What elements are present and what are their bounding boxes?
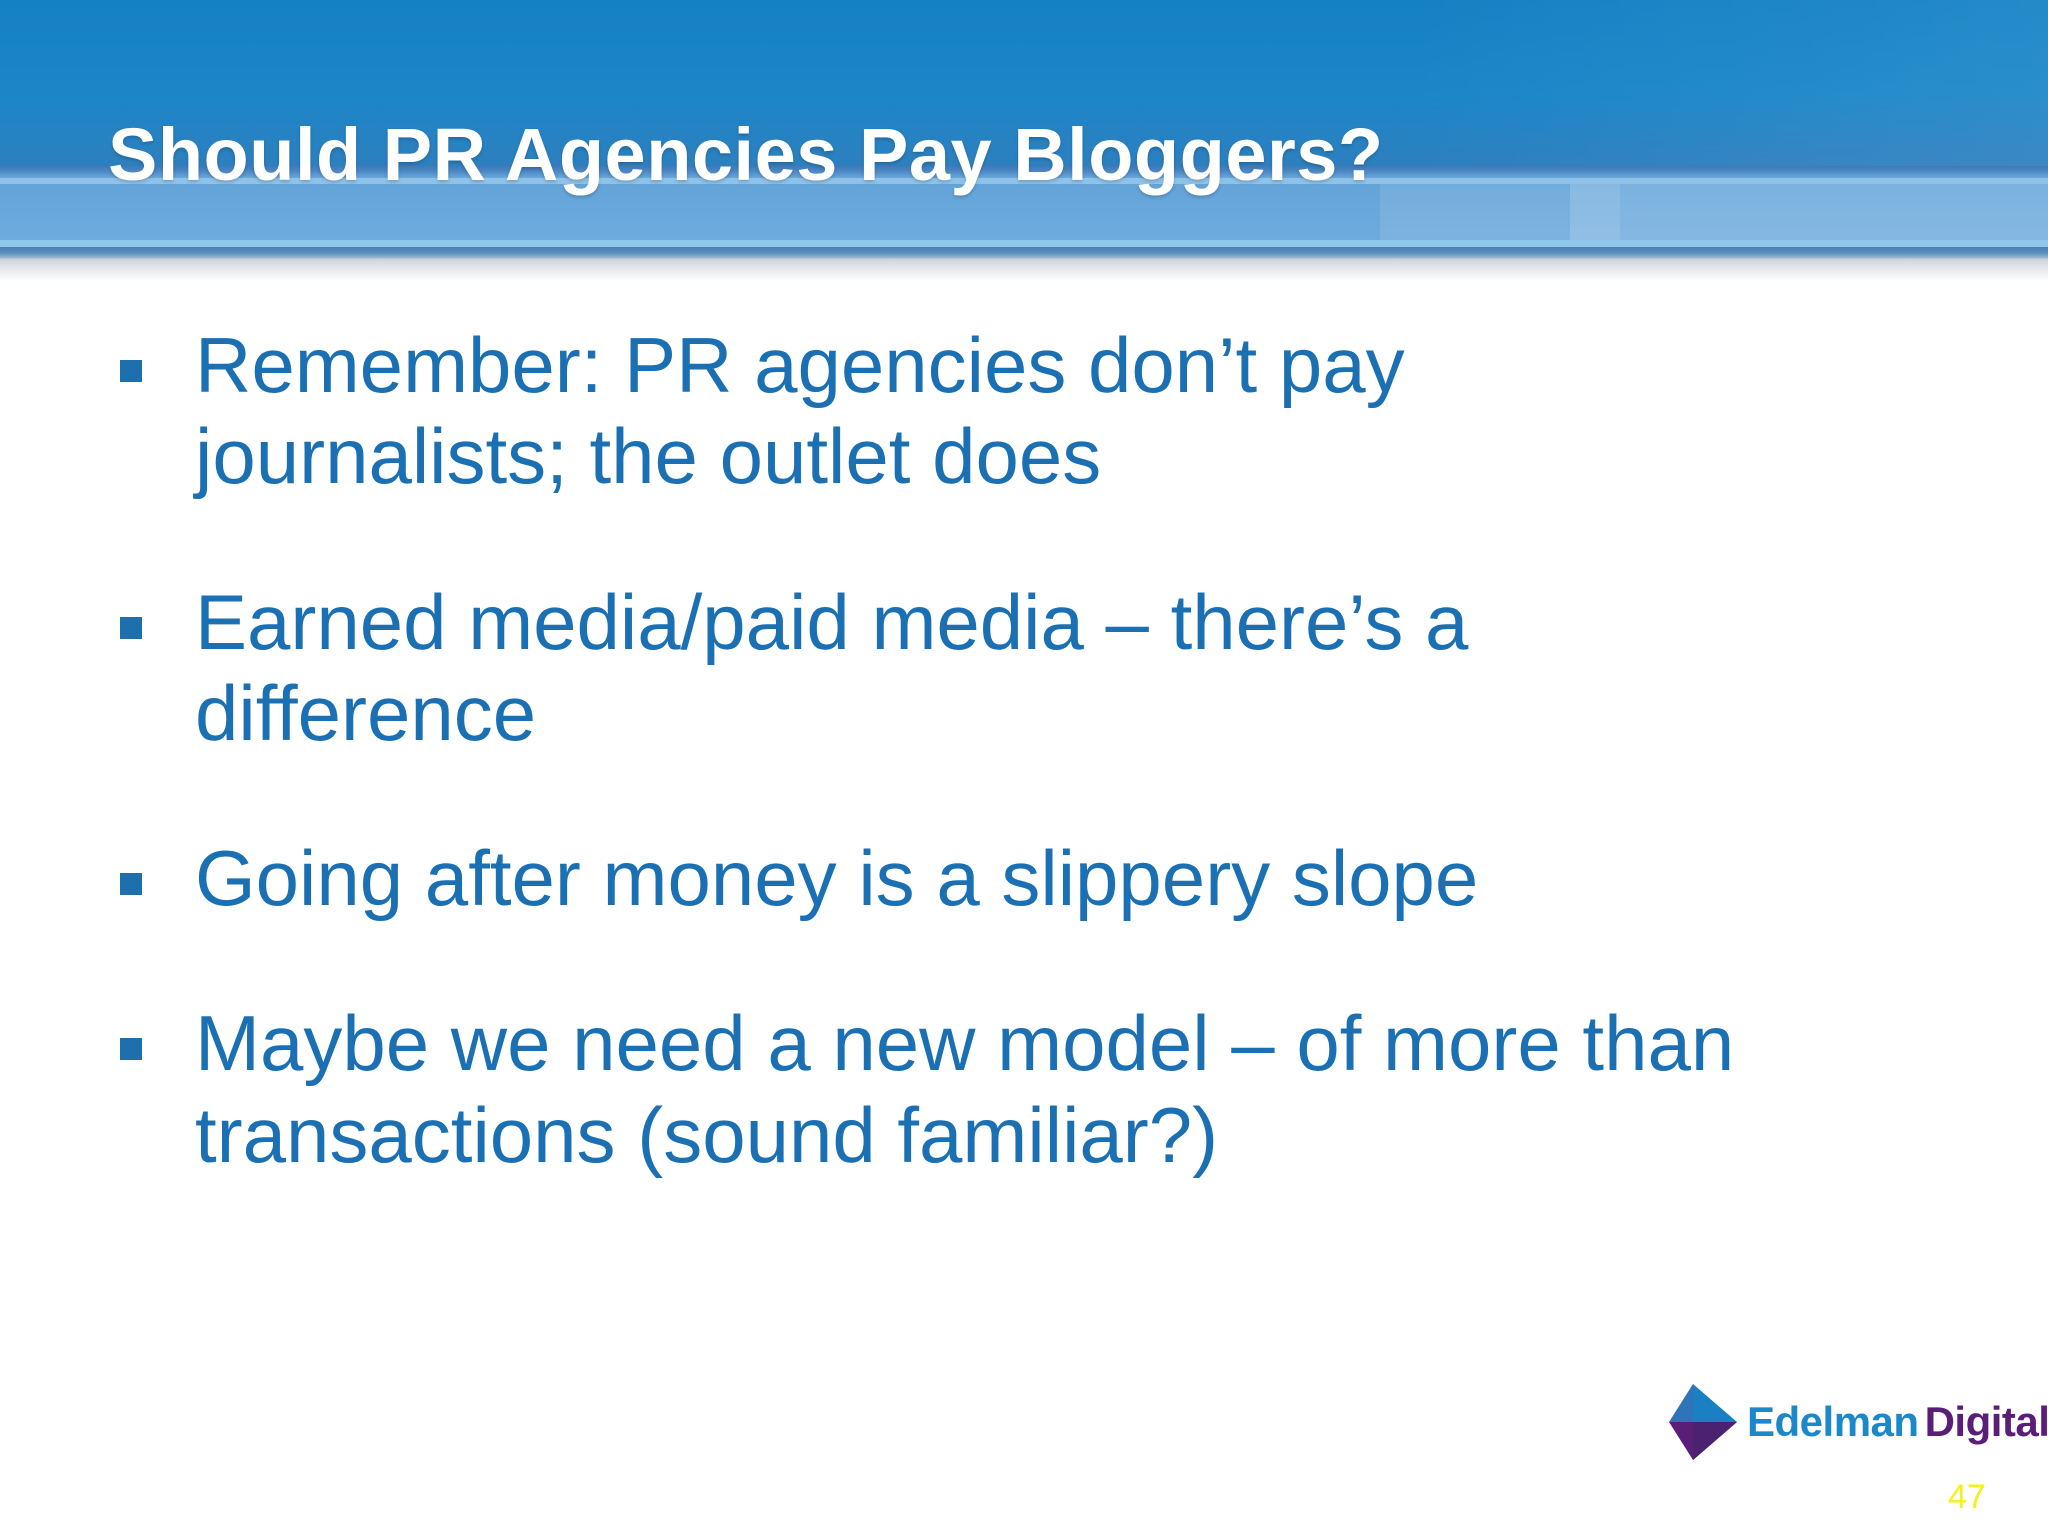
bullet-list: Remember: PR agencies don’t pay journali… — [120, 320, 1910, 1181]
logo-brand-primary: Edelman — [1747, 1398, 1919, 1445]
header-hairline — [0, 240, 2048, 247]
list-item: Earned media/paid media – there’s a diff… — [120, 577, 1910, 760]
header-bottom-fade — [0, 259, 2048, 281]
logo-brand-secondary: Digital — [1925, 1398, 2048, 1445]
bullet-text: Earned media/paid media – there’s a diff… — [195, 577, 1725, 760]
edelman-triangle-icon — [1663, 1382, 1741, 1462]
bullet-text: Maybe we need a new model – of more than… — [195, 998, 1835, 1181]
square-bullet-icon — [120, 617, 142, 639]
bullet-text: Remember: PR agencies don’t pay journali… — [195, 320, 1665, 503]
edelman-digital-logo: EdelmanDigital — [1663, 1379, 2003, 1465]
logo-wordmark: EdelmanDigital — [1747, 1398, 2048, 1446]
square-bullet-icon — [120, 1038, 142, 1060]
header-body-sheen-right — [1570, 184, 2048, 246]
list-item: Going after money is a slippery slope — [120, 833, 1910, 924]
page-title: Should PR Agencies Pay Bloggers? — [108, 118, 1708, 192]
slide-canvas: Should PR Agencies Pay Bloggers? Remembe… — [0, 0, 2048, 1536]
square-bullet-icon — [120, 360, 142, 382]
square-bullet-icon — [120, 873, 142, 895]
list-item: Remember: PR agencies don’t pay journali… — [120, 320, 1910, 503]
page-number: 47 — [1948, 1478, 1986, 1517]
bullet-text: Going after money is a slippery slope — [195, 833, 1910, 924]
list-item: Maybe we need a new model – of more than… — [120, 998, 1910, 1181]
